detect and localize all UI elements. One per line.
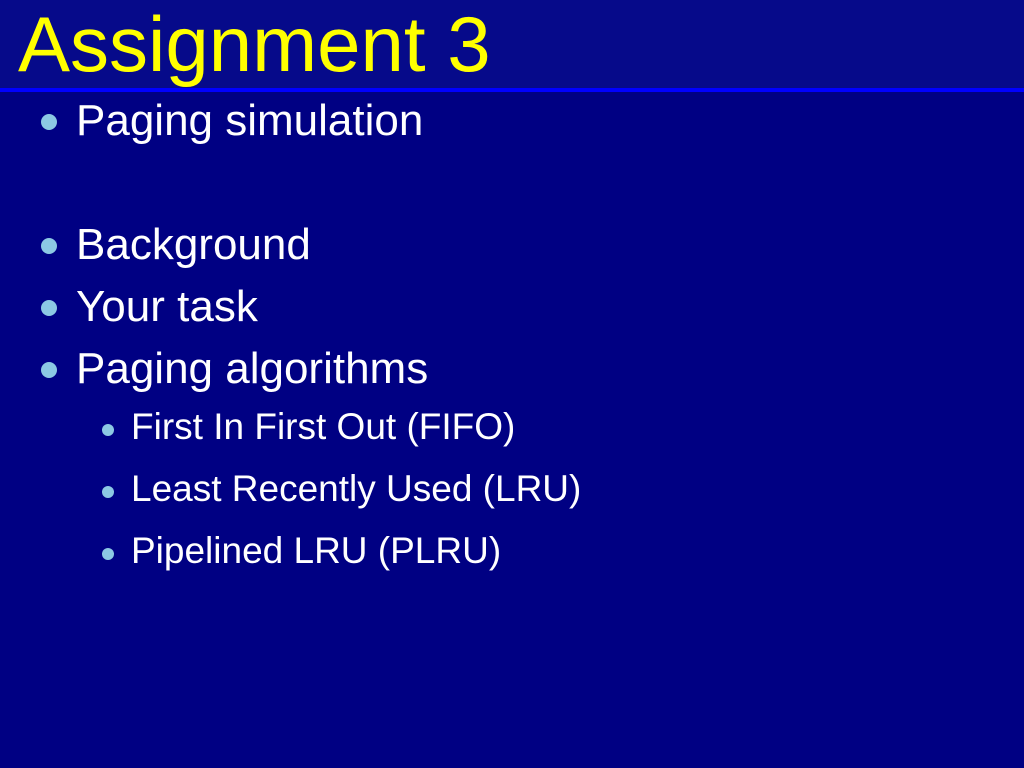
sub-list-item: Pipelined LRU (PLRU) (0, 526, 1024, 588)
blank-line (0, 154, 1024, 216)
list-item: Background (0, 216, 1024, 278)
title-band: Assignment 3 (0, 0, 1024, 88)
sub-list-item: First In First Out (FIFO) (0, 402, 1024, 464)
presentation-slide: Assignment 3 Paging simulation Backgroun… (0, 0, 1024, 768)
sub-list-item-label: Pipelined LRU (PLRU) (131, 526, 501, 576)
list-item: Your task (0, 278, 1024, 340)
sub-list-item: Least Recently Used (LRU) (0, 464, 1024, 526)
bullet-dot-icon (102, 548, 114, 560)
list-item-label: Your task (76, 278, 258, 336)
bullet-dot-icon (102, 424, 114, 436)
list-item: Paging simulation (0, 92, 1024, 154)
list-item: Paging algorithms (0, 340, 1024, 402)
bullet-dot-icon (41, 114, 57, 130)
page-title: Assignment 3 (18, 2, 491, 86)
bullet-dot-icon (102, 486, 114, 498)
sub-list-item-label: Least Recently Used (LRU) (131, 464, 581, 514)
bullet-dot-icon (41, 362, 57, 378)
sub-list-item-label: First In First Out (FIFO) (131, 402, 515, 452)
bullet-dot-icon (41, 238, 57, 254)
list-item-label: Background (76, 216, 311, 274)
slide-body: Paging simulation Background Your task P… (0, 92, 1024, 768)
list-item-label: Paging algorithms (76, 340, 428, 398)
bullet-dot-icon (41, 300, 57, 316)
list-item-label: Paging simulation (76, 92, 423, 150)
